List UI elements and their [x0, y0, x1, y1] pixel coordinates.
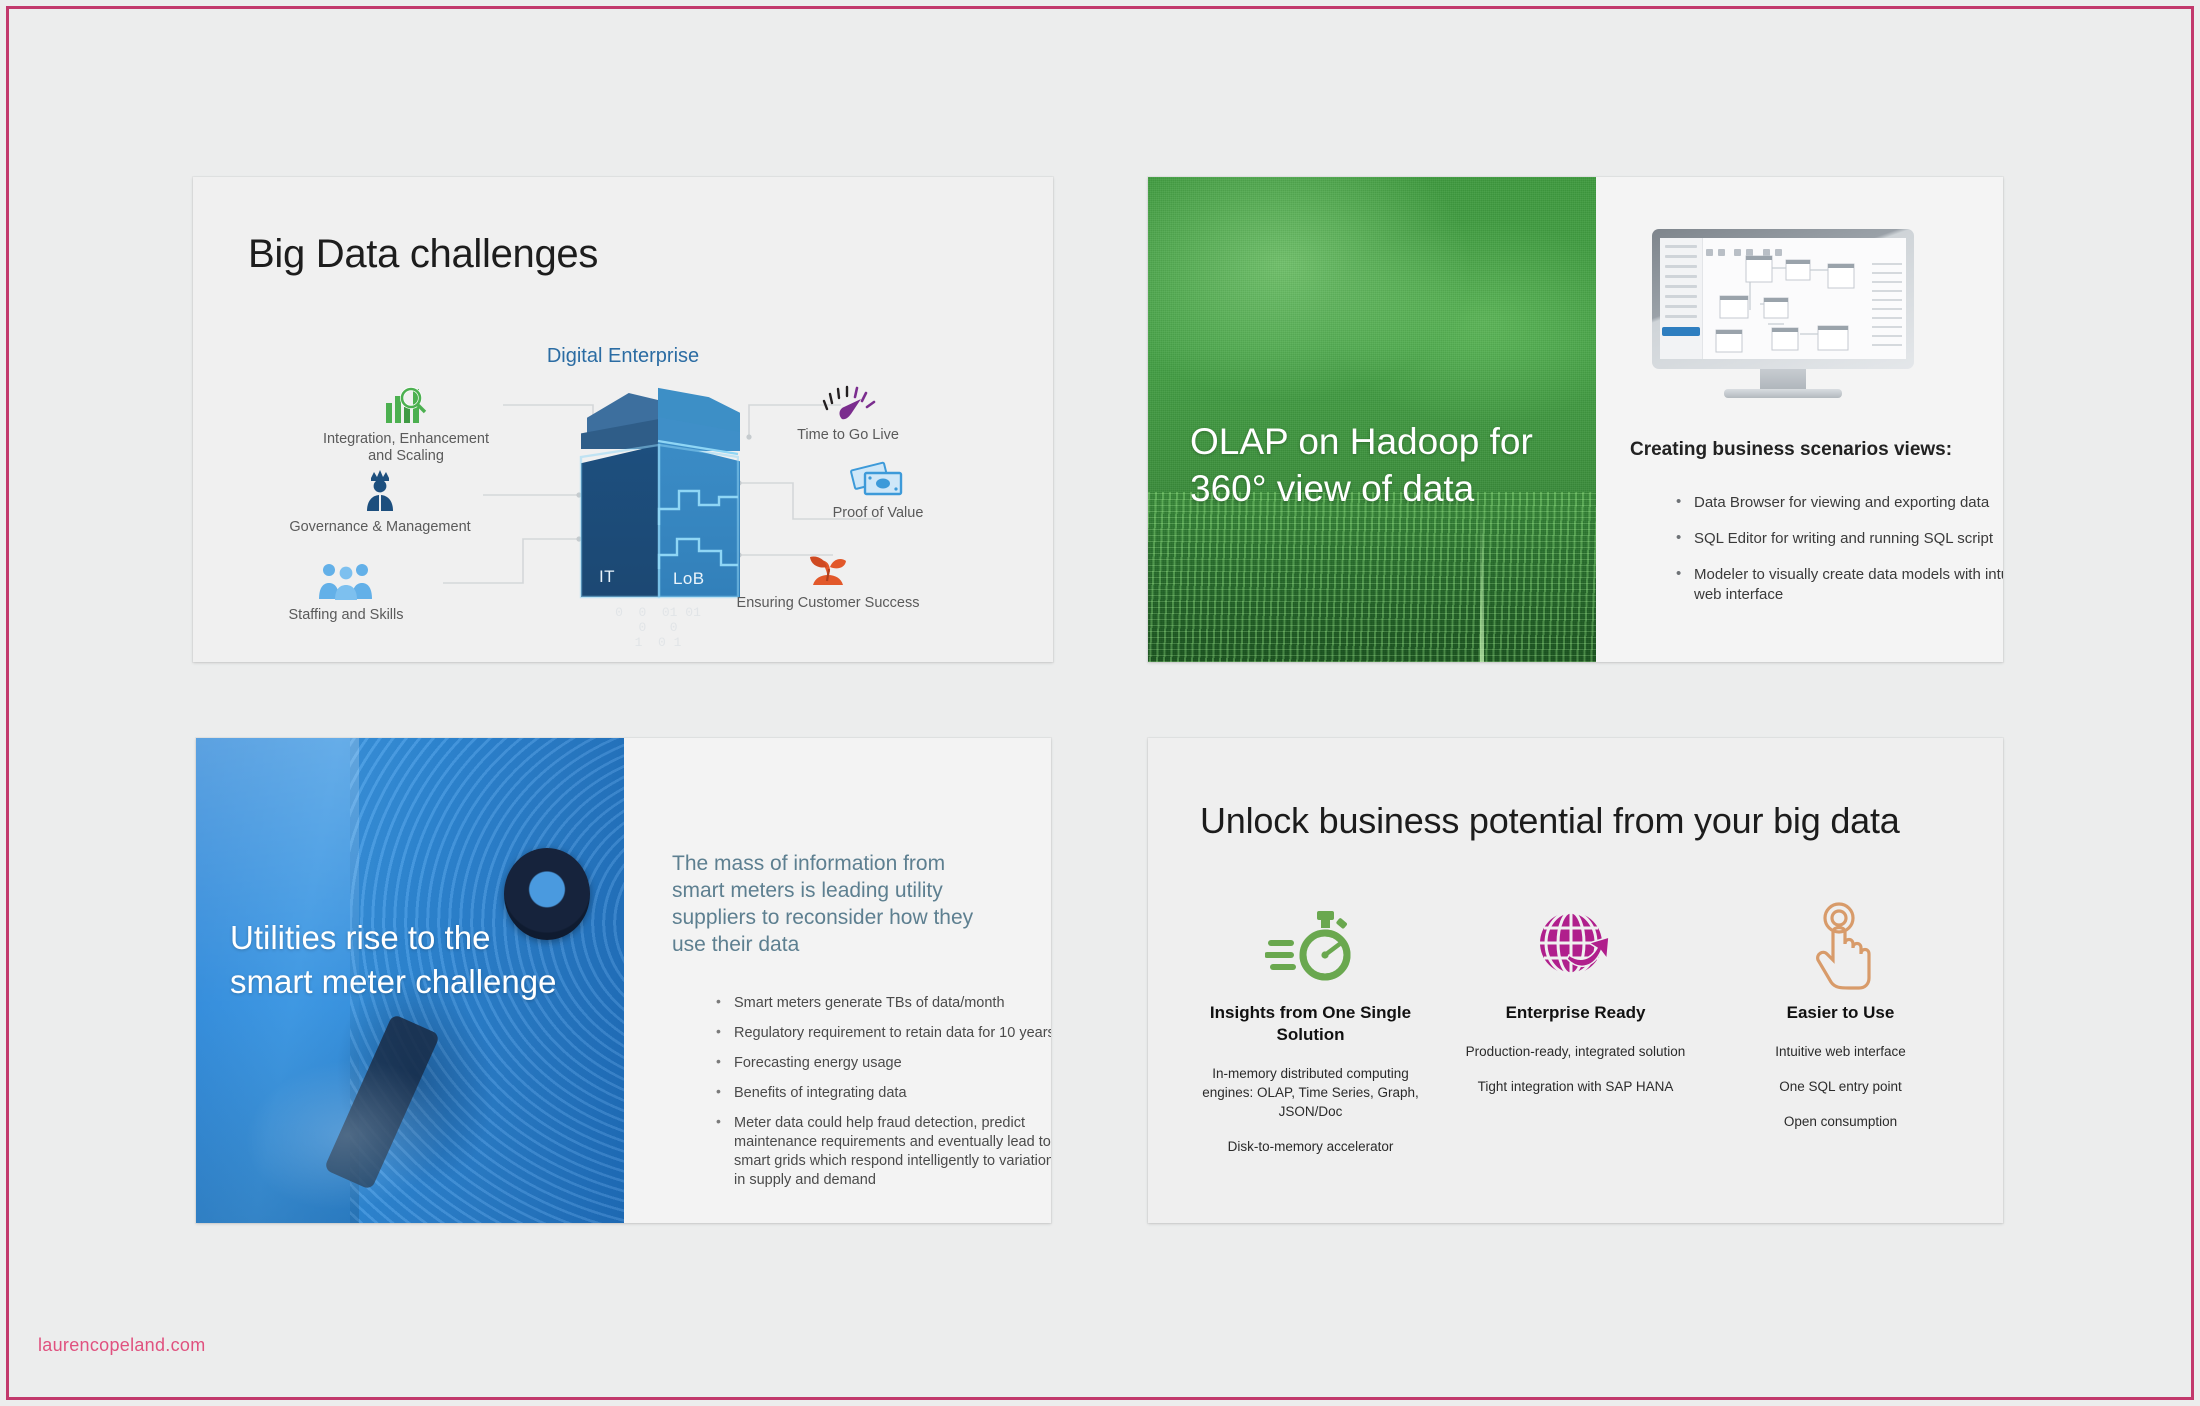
olap-bullet-list: Data Browser for viewing and exporting d…	[1630, 493, 2003, 621]
diagram-node-time-to-go-live[interactable]: Time to Go Live	[753, 375, 943, 444]
olap-content-pane: Creating business scenarios views: Data …	[1596, 177, 2003, 662]
monitor-neck	[1760, 369, 1806, 391]
list-item: Smart meters generate TBs of data/month	[712, 994, 1051, 1013]
building-label-it: IT	[599, 567, 615, 587]
monitor-base	[1724, 389, 1842, 398]
page-title: Unlock business potential from your big …	[1200, 800, 1900, 842]
list-item: SQL Editor for writing and running SQL s…	[1670, 529, 2003, 549]
benefit-heading: Enterprise Ready	[1461, 1002, 1690, 1024]
utilities-bullet-list: Smart meters generate TBs of data/month …	[672, 994, 1051, 1201]
page-title: Big Data challenges	[248, 232, 598, 277]
diagram-node-label: Proof of Value	[783, 505, 973, 522]
slide-card-utilities-smart-meter[interactable]: Utilities rise to the smart meter challe…	[196, 738, 1051, 1223]
benefit-paragraph: Disk-to-memory accelerator	[1196, 1137, 1425, 1156]
diagram-node-governance[interactable]: Governance & Management	[285, 467, 475, 536]
monitor-screen	[1660, 238, 1906, 359]
modeler-canvas	[1660, 238, 1906, 359]
building-label-lob: LoB	[673, 569, 704, 589]
slide-card-big-data-challenges[interactable]: Big Data challenges Digital Enterprise	[193, 177, 1053, 662]
benefit-column-easier[interactable]: Easier to Use Intuitive web interface On…	[1708, 898, 1973, 1156]
utilities-lead-text: The mass of information from smart meter…	[672, 850, 992, 958]
benefit-column-insights[interactable]: Insights from One Single Solution In-mem…	[1178, 898, 1443, 1156]
list-item: Benefits of integrating data	[712, 1084, 1051, 1103]
speedometer-icon	[753, 375, 943, 421]
list-item: Data Browser for viewing and exporting d…	[1670, 493, 2003, 513]
stopwatch-icon	[1196, 898, 1425, 994]
banknotes-icon	[783, 453, 973, 499]
slide-card-unlock-potential[interactable]: Unlock business potential from your big …	[1148, 738, 2003, 1223]
diagram-node-integration[interactable]: Integration, Enhancement and Scaling	[311, 379, 501, 465]
olap-headline: OLAP on Hadoop for 360° view of data	[1190, 418, 1550, 512]
sprout-icon	[733, 543, 923, 589]
diagram-node-label: Ensuring Customer Success	[733, 595, 923, 612]
benefit-paragraph: Open consumption	[1726, 1112, 1955, 1131]
benefit-heading: Insights from One Single Solution	[1196, 1002, 1425, 1046]
diagram-node-label: Integration, Enhancement and Scaling	[311, 431, 501, 465]
slide-card-olap-hadoop[interactable]: OLAP on Hadoop for 360° view of data	[1148, 177, 2003, 662]
utilities-headline: Utilities rise to the smart meter challe…	[230, 916, 560, 1004]
big-data-diagram: Digital Enterprise	[193, 287, 1053, 662]
city-lights-layer	[1148, 492, 1596, 662]
site-watermark: laurencopeland.com	[38, 1335, 206, 1356]
list-item: Modeler to visually create data models w…	[1670, 565, 2003, 605]
list-item: Forecasting energy usage	[712, 1054, 1051, 1073]
city-road-highlight	[1480, 512, 1484, 662]
list-item: Meter data could help fraud detection, p…	[712, 1114, 1051, 1190]
person-crown-icon	[285, 467, 475, 513]
digital-enterprise-building: IT LoB	[579, 379, 739, 609]
bar-chart-magnifier-icon	[311, 379, 501, 425]
utilities-content-pane: The mass of information from smart meter…	[624, 738, 1051, 1223]
utilities-hero-photo: Utilities rise to the smart meter challe…	[196, 738, 624, 1223]
diagram-node-proof-of-value[interactable]: Proof of Value	[783, 453, 973, 522]
people-group-icon	[251, 555, 441, 601]
benefit-heading: Easier to Use	[1726, 1002, 1955, 1024]
diagram-node-staffing[interactable]: Staffing and Skills	[251, 555, 441, 624]
benefit-paragraph: Intuitive web interface	[1726, 1042, 1955, 1061]
benefit-paragraph: Tight integration with SAP HANA	[1461, 1077, 1690, 1096]
benefit-column-enterprise[interactable]: Enterprise Ready Production-ready, integ…	[1443, 898, 1708, 1156]
diagram-node-label: Staffing and Skills	[251, 607, 441, 624]
benefit-columns: Insights from One Single Solution In-mem…	[1178, 898, 1973, 1156]
monitor-bezel	[1652, 229, 1914, 369]
diagram-node-label: Time to Go Live	[753, 427, 943, 444]
diagram-node-label: Governance & Management	[285, 519, 475, 536]
benefit-paragraph: In-memory distributed computing engines:…	[1196, 1064, 1425, 1121]
globe-arrow-icon	[1461, 898, 1690, 994]
binary-digits-decoration: 0 0 01 010 01 0 1	[593, 605, 723, 661]
desktop-monitor-icon	[1652, 229, 1914, 404]
benefit-paragraph: Production-ready, integrated solution	[1461, 1042, 1690, 1061]
list-item: Regulatory requirement to retain data fo…	[712, 1024, 1051, 1043]
diagram-node-customer-success[interactable]: Ensuring Customer Success	[733, 543, 923, 612]
olap-subheading: Creating business scenarios views:	[1630, 439, 1990, 461]
hand-tap-icon	[1726, 898, 1955, 994]
olap-hero-photo: OLAP on Hadoop for 360° view of data	[1148, 177, 1596, 662]
slide-board: Big Data challenges Digital Enterprise	[0, 0, 2200, 1406]
benefit-paragraph: One SQL entry point	[1726, 1077, 1955, 1096]
